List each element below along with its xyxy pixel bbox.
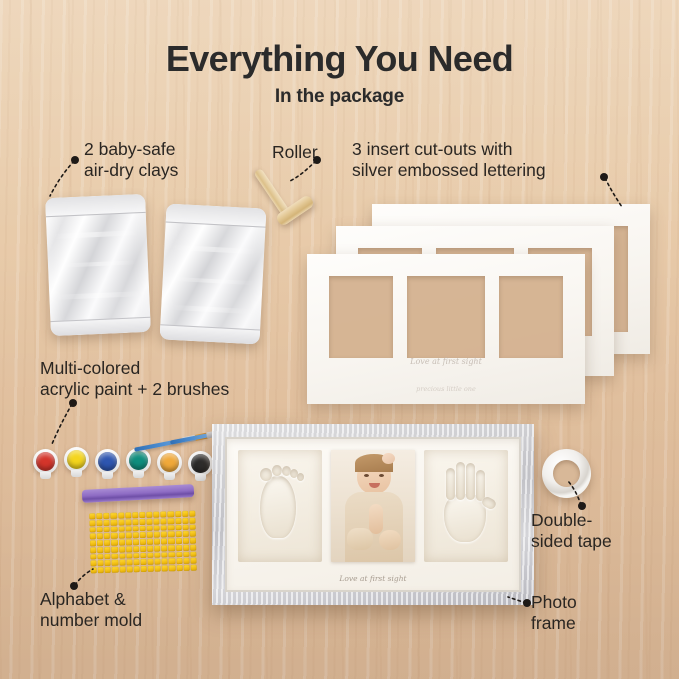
mold-cell bbox=[126, 539, 132, 545]
mold-cell bbox=[89, 520, 95, 526]
mold-cell bbox=[182, 531, 188, 537]
mold-cell bbox=[176, 538, 182, 544]
mold-cell bbox=[154, 552, 160, 558]
mold-cell bbox=[126, 546, 132, 552]
mold-cell bbox=[175, 511, 181, 517]
mold-cell bbox=[139, 512, 145, 518]
mold-cell bbox=[140, 546, 146, 552]
frame-inner-mat: Love at first sight bbox=[225, 437, 521, 592]
mold-cell bbox=[161, 545, 167, 551]
callout-label-inserts: 3 insert cut-outs with silver embossed l… bbox=[352, 139, 546, 182]
mold-cell bbox=[96, 513, 102, 519]
mold-cell bbox=[97, 533, 103, 539]
mold-cell bbox=[126, 567, 132, 573]
callout-label-mold: Alphabet & number mold bbox=[40, 589, 142, 632]
callout-label-paint: Multi-colored acrylic paint + 2 brushes bbox=[40, 358, 229, 401]
mold-cell bbox=[133, 560, 139, 566]
mold-cell bbox=[162, 552, 168, 558]
baby-photo bbox=[331, 450, 415, 562]
mold-cell bbox=[104, 526, 110, 532]
mold-cell bbox=[91, 567, 97, 573]
mold-cell bbox=[175, 518, 181, 524]
clay-pouch-2 bbox=[160, 203, 267, 344]
mold-cell bbox=[155, 566, 161, 572]
mold-press-bar bbox=[82, 484, 195, 503]
mold-cell bbox=[119, 546, 125, 552]
clay-roller bbox=[263, 160, 339, 236]
mold-cell bbox=[189, 511, 195, 517]
mold-cell bbox=[154, 525, 160, 531]
mold-cell bbox=[161, 518, 167, 524]
paint-pot bbox=[157, 450, 182, 475]
mold-cell bbox=[104, 540, 110, 546]
mold-cell bbox=[169, 552, 175, 558]
photo-frame: Love at first sight bbox=[212, 424, 534, 605]
mold-cell bbox=[169, 559, 175, 565]
mold-cell bbox=[169, 565, 175, 571]
mold-cell bbox=[168, 538, 174, 544]
frame-caption: Love at first sight bbox=[225, 574, 521, 583]
mold-cell bbox=[98, 560, 104, 566]
mold-cell bbox=[176, 545, 182, 551]
mold-cell bbox=[89, 513, 95, 519]
mold-cell bbox=[140, 532, 146, 538]
mold-cell bbox=[146, 512, 152, 518]
mold-cell bbox=[175, 525, 181, 531]
mold-cell bbox=[148, 559, 154, 565]
page-subtitle: In the package bbox=[0, 86, 679, 108]
footprint-cast bbox=[238, 450, 322, 562]
mold-cell bbox=[90, 540, 96, 546]
mold-cell bbox=[168, 532, 174, 538]
mold-cell bbox=[190, 551, 196, 557]
mold-cell bbox=[119, 553, 125, 559]
mold-cell bbox=[104, 520, 110, 526]
mold-cell bbox=[97, 547, 103, 553]
mold-cell bbox=[112, 560, 118, 566]
mold-cell bbox=[190, 544, 196, 550]
clay-pouch-1 bbox=[45, 194, 151, 336]
mold-cell bbox=[161, 511, 167, 517]
callout-label-tape: Double- sided tape bbox=[531, 510, 612, 553]
mold-cell bbox=[147, 532, 153, 538]
double-sided-tape-roll bbox=[542, 449, 591, 498]
mold-cell bbox=[161, 538, 167, 544]
mold-cell bbox=[111, 513, 117, 519]
mold-cell bbox=[125, 519, 131, 525]
mold-cell bbox=[140, 553, 146, 559]
mold-cell bbox=[147, 525, 153, 531]
mold-cell bbox=[162, 559, 168, 565]
mold-cell bbox=[119, 567, 125, 573]
mold-cell bbox=[175, 531, 181, 537]
mold-cell bbox=[118, 540, 124, 546]
mold-cell bbox=[139, 525, 145, 531]
mold-cell bbox=[112, 547, 118, 553]
mold-cell bbox=[176, 565, 182, 571]
infographic-canvas: Everything You Need In the package Bundl… bbox=[0, 0, 679, 679]
callout-label-roller: Roller bbox=[272, 142, 318, 163]
mold-cell bbox=[190, 531, 196, 537]
paint-pot bbox=[64, 447, 89, 472]
mold-cell bbox=[105, 560, 111, 566]
insert-embossed-text-3: precious little one bbox=[307, 385, 585, 393]
mold-cell bbox=[125, 512, 131, 518]
mold-cell bbox=[112, 567, 118, 573]
mold-cell bbox=[162, 566, 168, 572]
mold-cell bbox=[161, 532, 167, 538]
mold-cell bbox=[97, 540, 103, 546]
callout-label-clays: 2 baby-safe air-dry clays bbox=[84, 139, 178, 182]
mold-cell bbox=[90, 534, 96, 540]
handprint-cast bbox=[424, 450, 508, 562]
mold-cell bbox=[168, 525, 174, 531]
mold-cell bbox=[182, 518, 188, 524]
mold-cell bbox=[132, 512, 138, 518]
mold-cell bbox=[97, 554, 103, 560]
mold-cell bbox=[118, 519, 124, 525]
mold-cell bbox=[190, 565, 196, 571]
mold-cell bbox=[132, 526, 138, 532]
mold-cell bbox=[126, 553, 132, 559]
mold-cell bbox=[183, 551, 189, 557]
mold-cell bbox=[148, 566, 154, 572]
mold-cell bbox=[118, 526, 124, 532]
mold-cell bbox=[147, 546, 153, 552]
mold-cell bbox=[154, 545, 160, 551]
mold-cell bbox=[111, 533, 117, 539]
mold-cell bbox=[155, 559, 161, 565]
mold-cell bbox=[154, 518, 160, 524]
mold-cell bbox=[147, 539, 153, 545]
paint-pot bbox=[188, 451, 213, 476]
mold-cell bbox=[176, 558, 182, 564]
mold-cell bbox=[105, 567, 111, 573]
mold-cell bbox=[126, 560, 132, 566]
mold-cell bbox=[97, 520, 103, 526]
mold-cell bbox=[90, 561, 96, 567]
mold-cell bbox=[111, 526, 117, 532]
mold-cell bbox=[183, 565, 189, 571]
insert-embossed-text-2: Love at first sight bbox=[307, 357, 585, 366]
alphabet-number-mold bbox=[89, 511, 197, 574]
mold-cell bbox=[133, 566, 139, 572]
mold-cell bbox=[140, 559, 146, 565]
mold-cell bbox=[182, 511, 188, 517]
mold-cell bbox=[189, 517, 195, 523]
mold-cell bbox=[190, 558, 196, 564]
mold-cell bbox=[133, 546, 139, 552]
mold-cell bbox=[133, 539, 139, 545]
mold-cell bbox=[103, 513, 109, 519]
mold-cell bbox=[183, 545, 189, 551]
mold-cell bbox=[125, 526, 131, 532]
mold-cell bbox=[111, 519, 117, 525]
mold-cell bbox=[140, 539, 146, 545]
mold-cell bbox=[139, 519, 145, 525]
mold-cell bbox=[112, 553, 118, 559]
mold-cell bbox=[146, 519, 152, 525]
mold-cell bbox=[98, 567, 104, 573]
mold-cell bbox=[90, 527, 96, 533]
mold-cell bbox=[168, 511, 174, 517]
mold-cell bbox=[104, 547, 110, 553]
mold-cell bbox=[182, 524, 188, 530]
mold-cell bbox=[105, 554, 111, 560]
mold-cell bbox=[168, 518, 174, 524]
mold-cell bbox=[97, 527, 103, 533]
mold-cell bbox=[176, 552, 182, 558]
mold-cell bbox=[183, 558, 189, 564]
mold-cell bbox=[183, 538, 189, 544]
mold-cell bbox=[141, 566, 147, 572]
mold-cell bbox=[118, 533, 124, 539]
mold-cell bbox=[169, 545, 175, 551]
mold-cell bbox=[119, 560, 125, 566]
mold-cell bbox=[132, 519, 138, 525]
mold-cell bbox=[90, 554, 96, 560]
mold-cell bbox=[154, 532, 160, 538]
mold-cell bbox=[189, 524, 195, 530]
mold-cell bbox=[118, 512, 124, 518]
paint-pot bbox=[126, 448, 151, 473]
paint-pot bbox=[33, 449, 58, 474]
mold-cell bbox=[104, 533, 110, 539]
mold-cell bbox=[90, 547, 96, 553]
mold-cell bbox=[161, 525, 167, 531]
mold-cell bbox=[111, 540, 117, 546]
mold-cell bbox=[153, 512, 159, 518]
mold-cell bbox=[125, 533, 131, 539]
mold-cell bbox=[147, 552, 153, 558]
mold-cell bbox=[190, 538, 196, 544]
callout-label-frame: Photo frame bbox=[531, 592, 577, 635]
mold-cell bbox=[154, 539, 160, 545]
paint-pot bbox=[95, 449, 120, 474]
mold-cell bbox=[133, 553, 139, 559]
page-title: Everything You Need bbox=[0, 38, 679, 80]
mold-cell bbox=[133, 532, 139, 538]
insert-cutout-1: Love at first sight precious little one bbox=[307, 254, 585, 404]
